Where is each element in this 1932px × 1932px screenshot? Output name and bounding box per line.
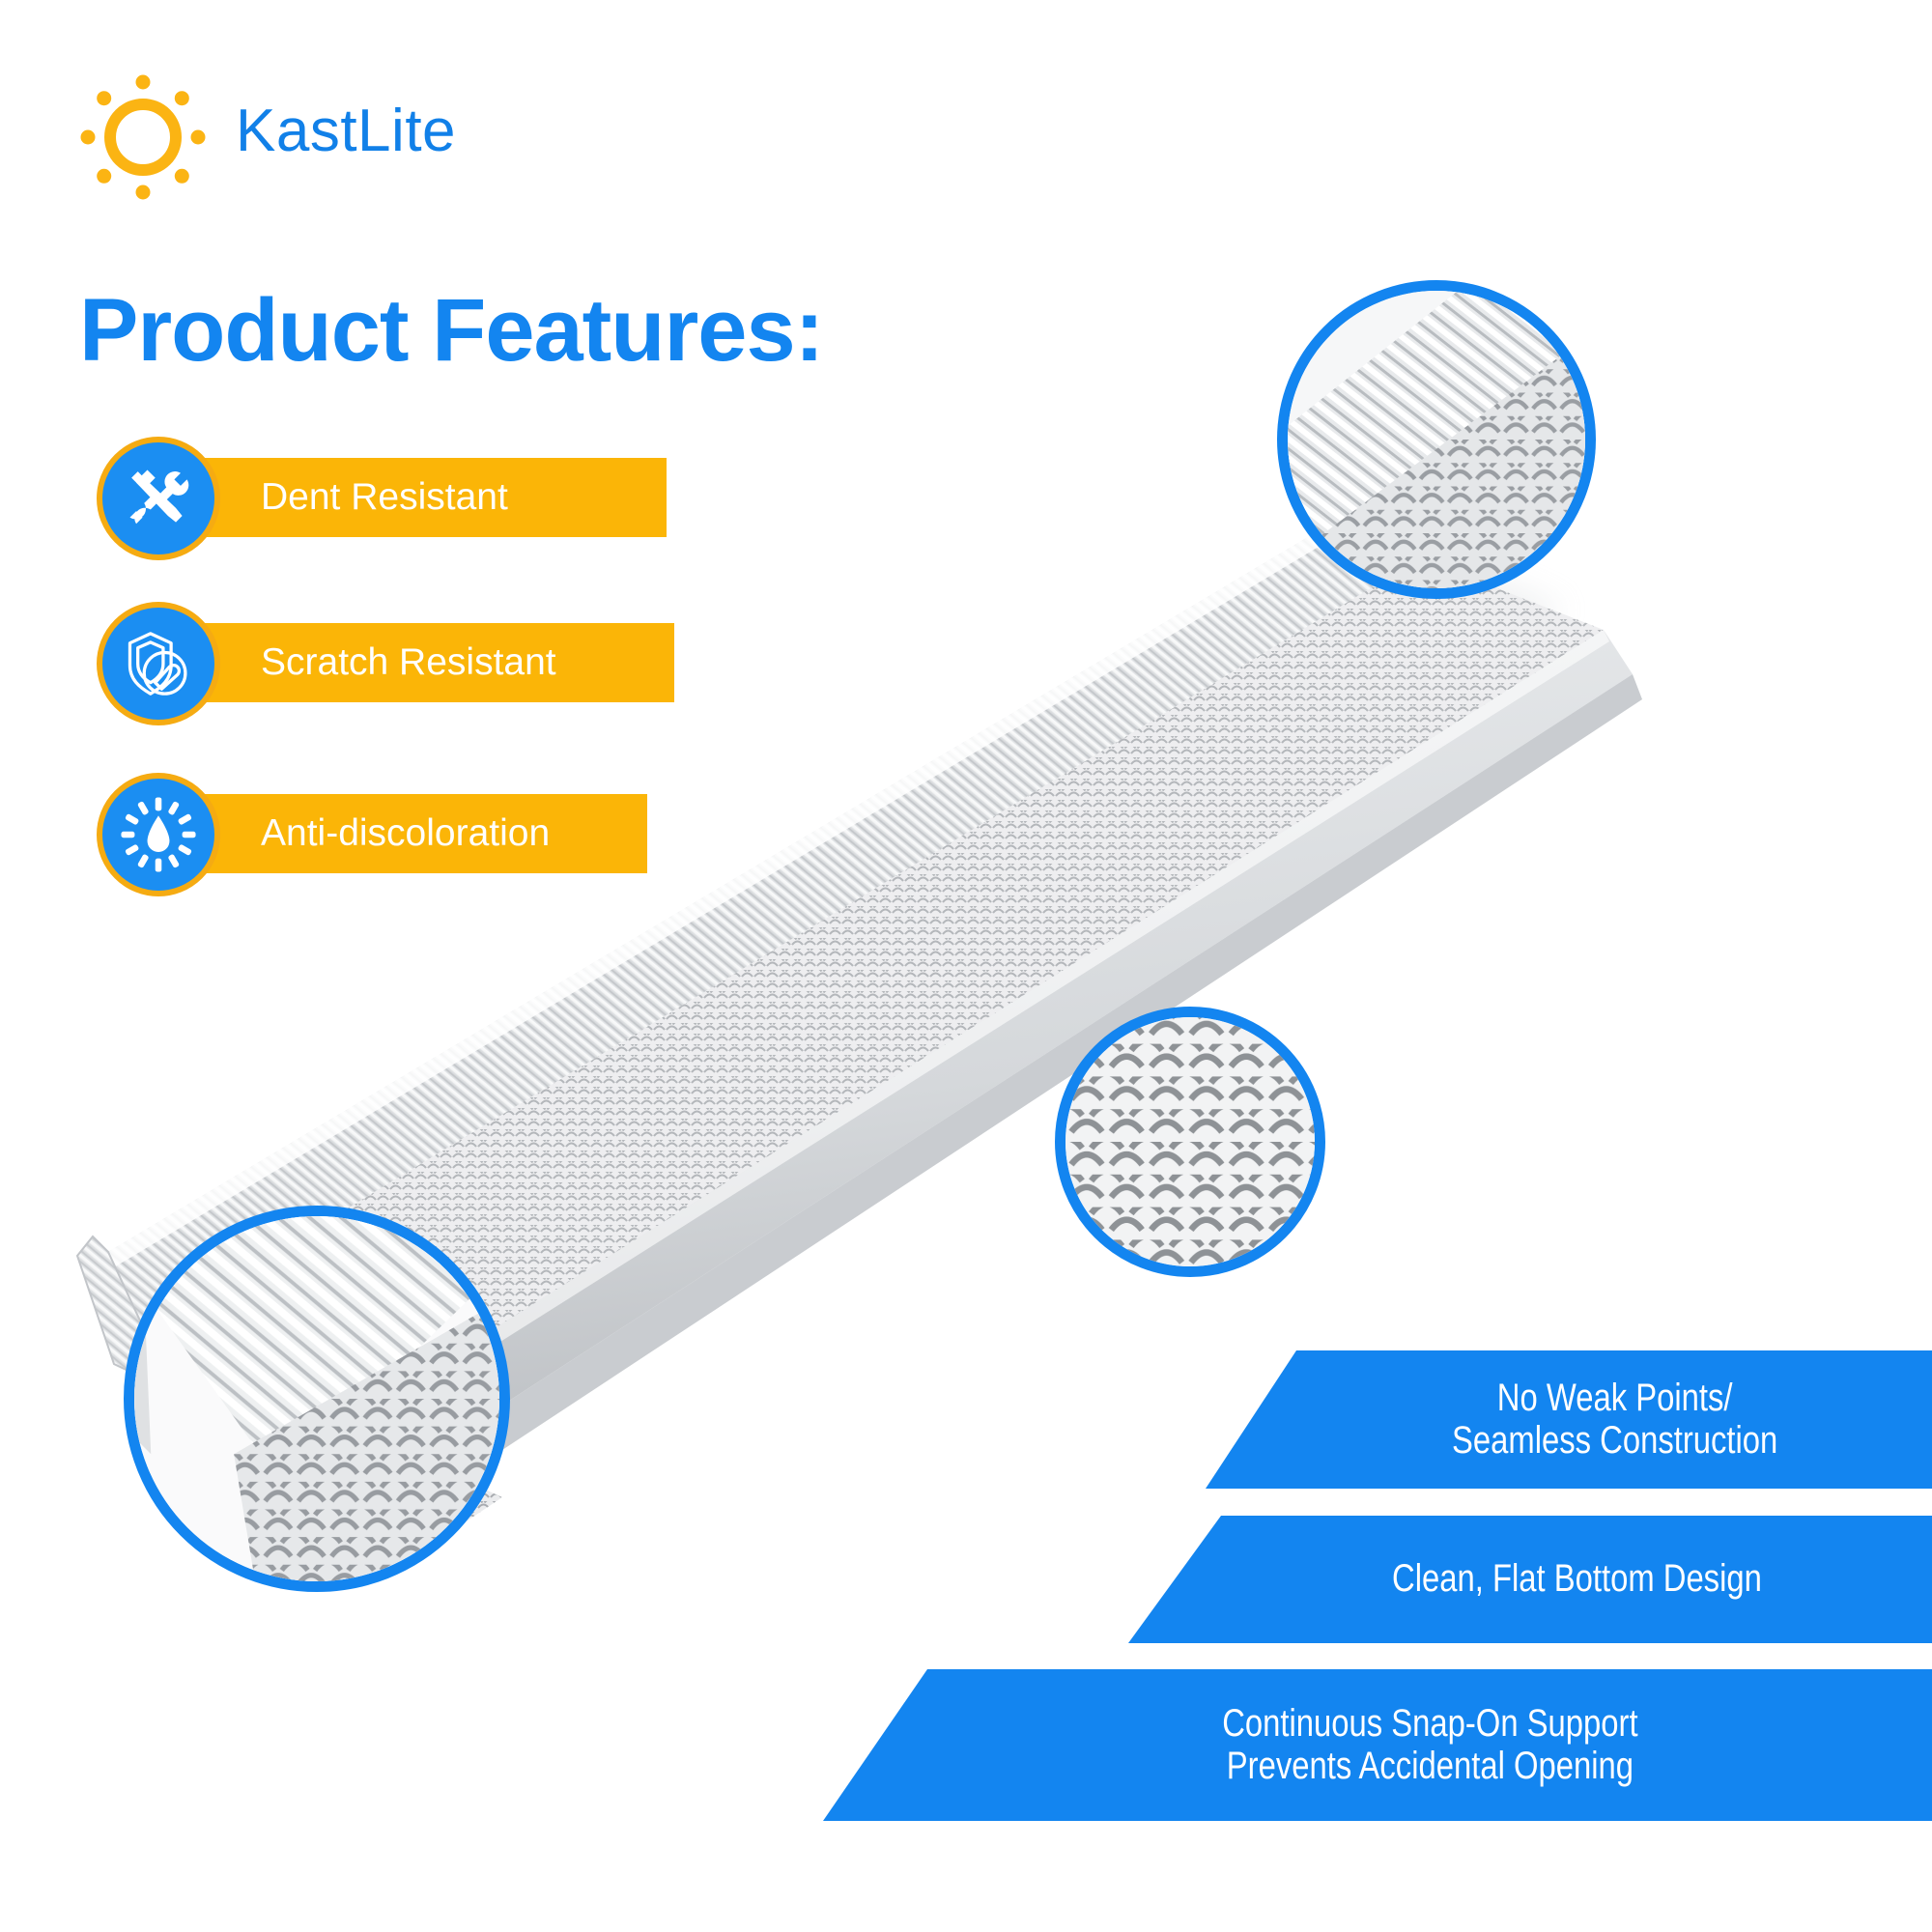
infographic-canvas: KastLite Product Features: Dent Resistan…: [0, 0, 1932, 1932]
callout-line-1: Clean, Flat Bottom Design: [1392, 1558, 1762, 1600]
callout-line-1: No Weak Points/: [1452, 1378, 1777, 1419]
callout-no-weak-points: No Weak Points/ Seamless Construction: [1206, 1350, 1932, 1489]
sun-icon: [75, 70, 211, 205]
hammer-wrench-icon: [97, 437, 220, 560]
sun-water-drop-icon: [97, 773, 220, 896]
brand-name: KastLite: [236, 97, 456, 165]
magnifier-mesh-perforation-detail: [1055, 1007, 1325, 1277]
magnifier-channel-end-profile-detail: [124, 1206, 510, 1592]
callout-snap-on-support: Continuous Snap-On Support Prevents Acci…: [823, 1669, 1932, 1821]
brand-logo: KastLite: [75, 70, 529, 195]
shield-blade-icon: [97, 602, 220, 725]
callout-flat-bottom-design: Clean, Flat Bottom Design: [1128, 1516, 1932, 1643]
callout-line-1: Continuous Snap-On Support: [1222, 1703, 1637, 1745]
callout-line-2: Prevents Accidental Opening: [1222, 1746, 1637, 1787]
magnifier-ribbed-edge-detail: [1277, 280, 1596, 599]
callout-line-2: Seamless Construction: [1452, 1420, 1777, 1462]
